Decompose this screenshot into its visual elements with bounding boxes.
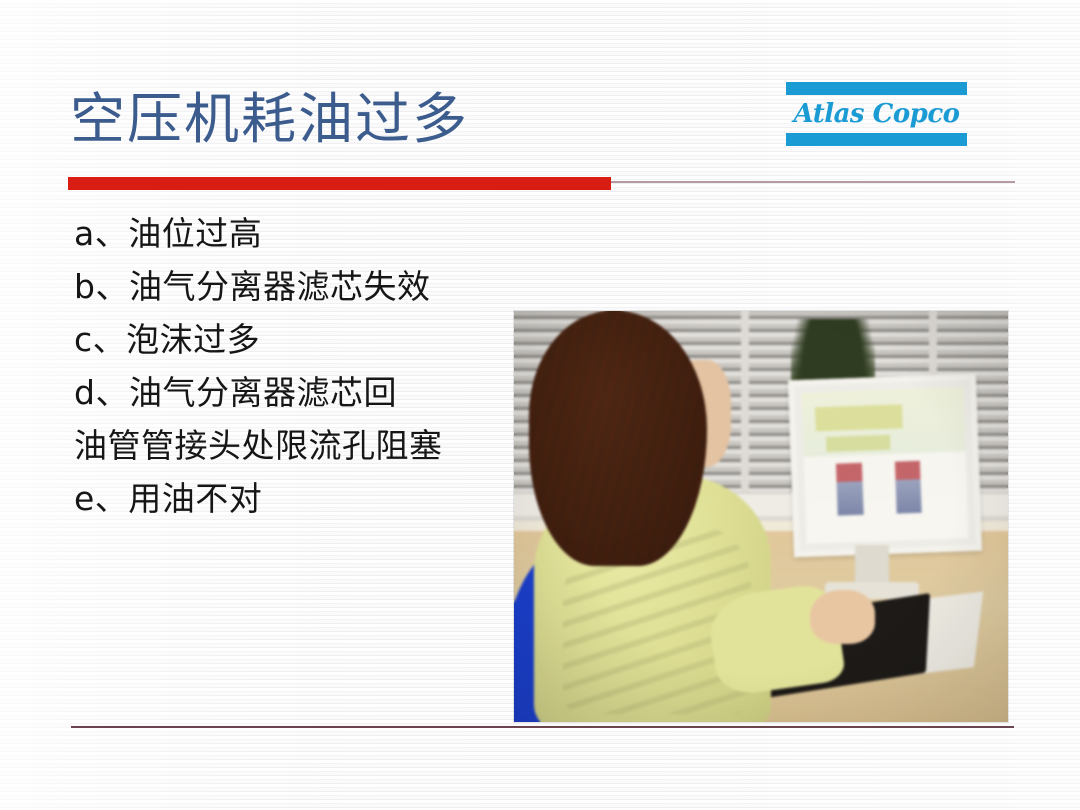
logo-bar-bottom — [786, 133, 967, 146]
list-item: d、油气分离器滤芯回 — [74, 366, 504, 419]
logo-bar-top — [786, 82, 967, 95]
logo-wordmark: Atlas Copco — [786, 95, 967, 133]
slide-canvas: 空压机耗油过多 Atlas Copco a、油位过高 b、油气分离器滤芯失效 c… — [0, 0, 1080, 810]
footer-rule — [71, 726, 1014, 728]
office-photo — [514, 311, 1008, 722]
list-item: a、油位过高 — [74, 207, 504, 260]
list-item: b、油气分离器滤芯失效 — [74, 260, 504, 313]
list-item: e、用油不对 — [74, 472, 504, 525]
title-underline-thick — [68, 177, 611, 190]
photo-vignette — [514, 311, 1008, 722]
bullet-list: a、油位过高 b、油气分离器滤芯失效 c、泡沫过多 d、油气分离器滤芯回 油管管… — [74, 207, 504, 525]
atlas-copco-logo: Atlas Copco — [786, 82, 967, 146]
page-title: 空压机耗油过多 — [70, 86, 469, 152]
list-item-continuation: 油管管接头处限流孔阻塞 — [74, 419, 504, 472]
title-underline-thin — [611, 181, 1015, 183]
list-item: c、泡沫过多 — [74, 313, 504, 366]
